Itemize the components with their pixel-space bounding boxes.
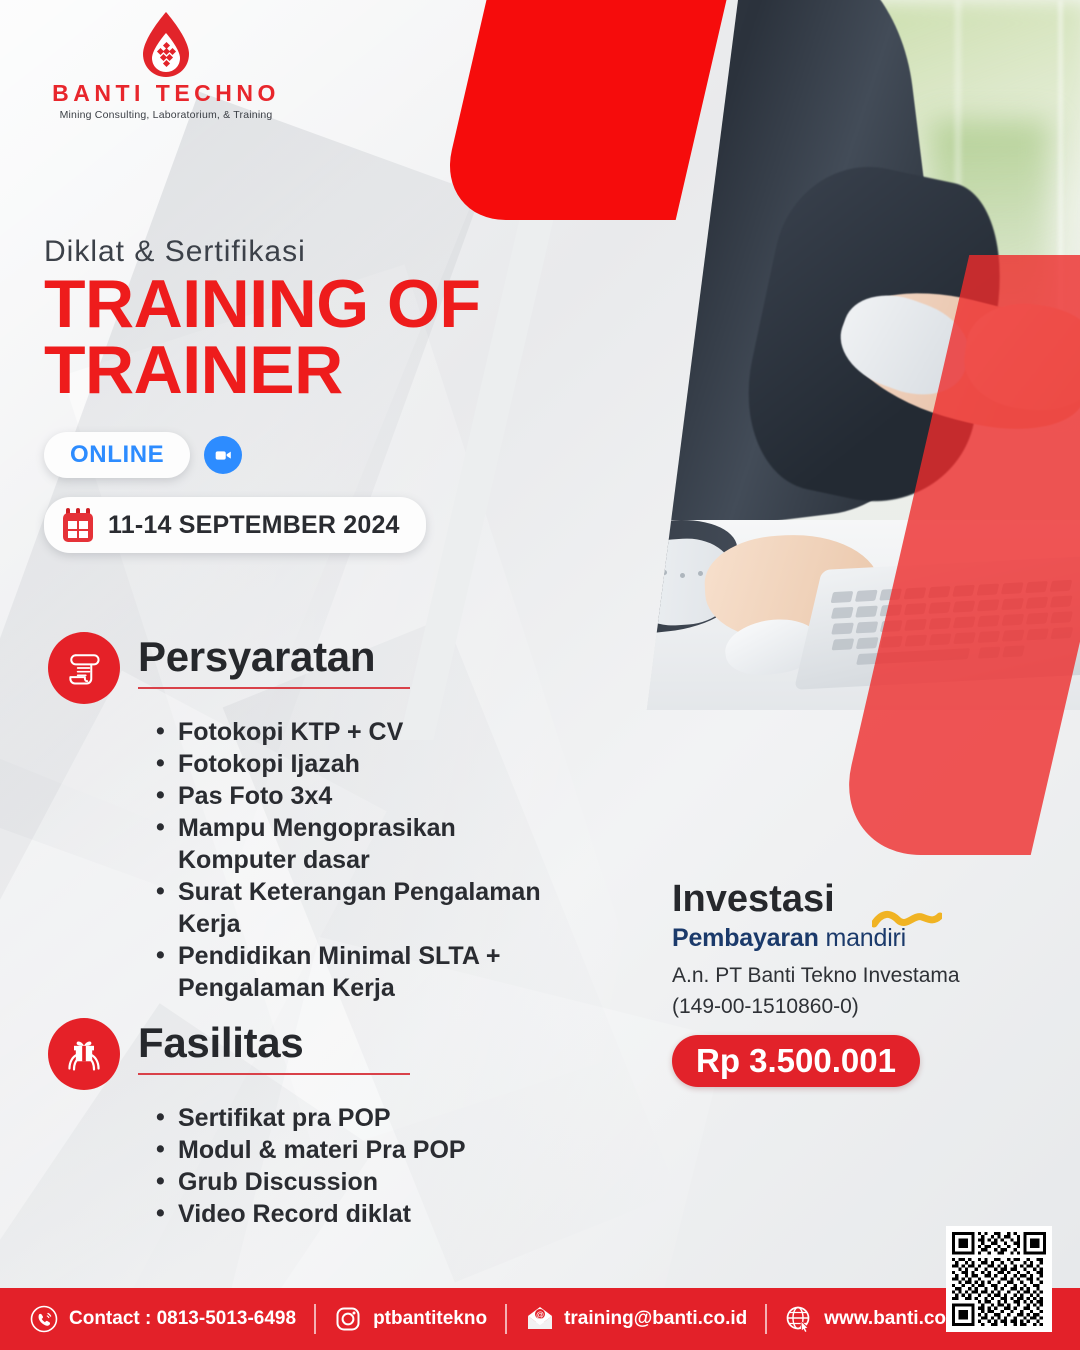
persyaratan-list: Fotokopi KTP + CV Fotokopi Ijazah Pas Fo… [156, 716, 548, 1004]
section-divider [138, 687, 410, 689]
gift-in-hands-icon [48, 1018, 120, 1090]
footer-divider [765, 1304, 767, 1334]
scroll-document-icon [48, 632, 120, 704]
footer-instagram[interactable]: ptbantitekno [334, 1305, 487, 1333]
list-item: Pendidikan Minimal SLTA + Pengalaman Ker… [156, 940, 548, 1004]
persyaratan-title-wrap: Persyaratan [138, 632, 548, 689]
list-item: Fotokopi KTP + CV [156, 716, 548, 748]
qr-code-icon [946, 1226, 1052, 1332]
footer-divider [505, 1304, 507, 1334]
list-item: Grub Discussion [156, 1166, 548, 1198]
zoom-video-camera-icon [204, 436, 242, 474]
flame-droplet-logo-icon [137, 10, 195, 80]
fasilitas-title: Fasilitas [138, 1022, 548, 1064]
footer-phone-text: Contact : 0813-5013-6498 [69, 1308, 296, 1330]
poster-title: TRAINING OF TRAINER [44, 272, 480, 404]
payment-label: Pembayaran [672, 924, 819, 952]
footer-phone[interactable]: Contact : 0813-5013-6498 [30, 1305, 296, 1333]
contact-footer: Contact : 0813-5013-6498 ptbantitekno [0, 1288, 1080, 1350]
brand-logo: BANTI TECHNO Mining Consulting, Laborato… [36, 10, 296, 121]
account-name: A.n. PT Banti Tekno Investama [672, 963, 1002, 989]
email-envelope-icon: @ [525, 1305, 553, 1333]
poster-kicker: Diklat & Sertifikasi [44, 235, 306, 269]
globe-icon [785, 1305, 813, 1333]
calendar-icon [60, 506, 96, 544]
mode-badge-row: ONLINE [44, 432, 242, 478]
persyaratan-header: Persyaratan [48, 632, 548, 704]
logo-wordmark: BANTI TECHNO [36, 82, 296, 105]
list-item: Mampu Mengoprasikan Komputer dasar [156, 812, 548, 876]
list-item: Sertifikat pra POP [156, 1102, 548, 1134]
footer-divider [314, 1304, 316, 1334]
online-badge: ONLINE [44, 432, 190, 478]
list-item: Surat Keterangan Pengalaman Kerja [156, 876, 548, 940]
price-badge: Rp 3.500.001 [672, 1035, 920, 1087]
mandiri-wave-icon [872, 910, 942, 930]
persyaratan-title: Persyaratan [138, 636, 548, 678]
poster-root: BANTI TECHNO Mining Consulting, Laborato… [0, 0, 1080, 1350]
footer-email-text: training@banti.co.id [564, 1308, 747, 1330]
list-item: Modul & materi Pra POP [156, 1134, 548, 1166]
fasilitas-header: Fasilitas [48, 1018, 548, 1090]
date-text: 11-14 SEPTEMBER 2024 [108, 511, 400, 540]
payment-line: Pembayaran mandiri [672, 924, 1002, 953]
fasilitas-title-wrap: Fasilitas [138, 1018, 548, 1075]
fasilitas-section: Fasilitas Sertifikat pra POP Modul & mat… [48, 1018, 548, 1230]
account-number: (149-00-1510860-0) [672, 994, 1002, 1020]
instagram-icon [334, 1305, 362, 1333]
footer-instagram-text: ptbantitekno [373, 1308, 487, 1330]
investasi-section: Investasi Pembayaran mandiri A.n. PT Ban… [672, 880, 1002, 1087]
poster-title-line2: TRAINER [44, 338, 480, 404]
list-item: Fotokopi Ijazah [156, 748, 548, 780]
list-item: Pas Foto 3x4 [156, 780, 548, 812]
mandiri-bank-logo: Pembayaran mandiri [672, 924, 1002, 958]
list-item: Video Record diklat [156, 1198, 548, 1230]
section-divider [138, 1073, 410, 1075]
footer-website[interactable]: www.banti.co.id [785, 1305, 968, 1333]
investasi-title: Investasi [672, 880, 1002, 918]
persyaratan-section: Persyaratan Fotokopi KTP + CV Fotokopi I… [48, 632, 548, 1004]
fasilitas-list: Sertifikat pra POP Modul & materi Pra PO… [156, 1102, 548, 1230]
phone-call-icon [30, 1305, 58, 1333]
date-badge: 11-14 SEPTEMBER 2024 [44, 497, 426, 553]
poster-title-line1: TRAINING OF [44, 266, 480, 342]
logo-tagline: Mining Consulting, Laboratorium, & Train… [36, 109, 296, 121]
svg-text:@: @ [536, 1311, 544, 1320]
footer-email[interactable]: @ training@banti.co.id [525, 1305, 747, 1333]
